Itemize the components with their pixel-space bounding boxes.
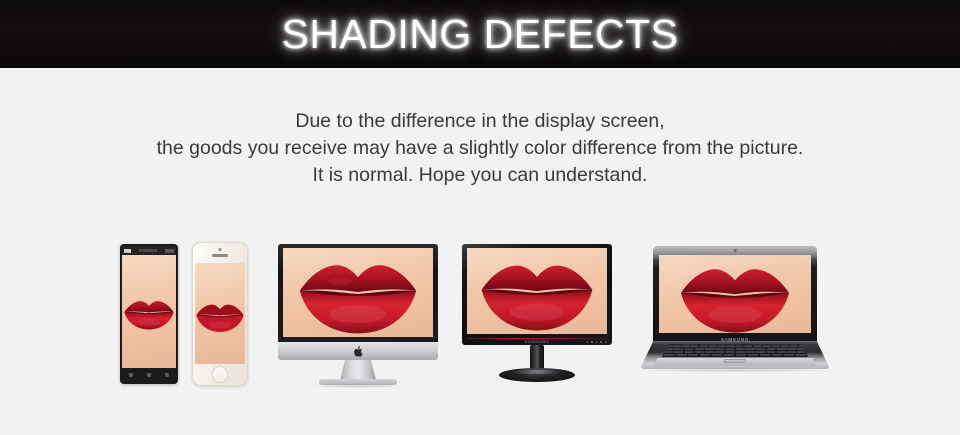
lips-artwork [195, 298, 245, 333]
device-android-phone [120, 244, 178, 384]
device-iphone [192, 242, 248, 386]
iphone-top-bar [192, 246, 248, 262]
lips-image-iphone [195, 263, 245, 364]
device-lineup: SAMSUNG [0, 236, 960, 396]
earpiece-speaker-icon [212, 254, 228, 257]
lips-image-imac [283, 248, 433, 337]
imac-chin [278, 342, 438, 360]
android-phone-screen [122, 254, 176, 368]
lips-image-monitor [467, 248, 607, 334]
home-button[interactable] [212, 366, 229, 383]
carrier-indicator-icon [124, 249, 131, 253]
monitor-bezel: SAMSUNG [462, 244, 612, 345]
back-button-icon[interactable] [165, 373, 169, 377]
disclaimer-line-2: the goods you receive may have a slightl… [0, 135, 960, 162]
menu-button-icon[interactable] [129, 373, 133, 377]
monitor-button-icon[interactable] [600, 341, 602, 343]
device-imac [278, 244, 438, 386]
lips-artwork [122, 293, 176, 333]
lips-icon [288, 252, 428, 336]
imac-shadow [310, 384, 406, 388]
monitor-control-buttons[interactable] [587, 341, 607, 343]
monitor-button-icon[interactable] [596, 341, 598, 343]
home-button-icon[interactable] [147, 373, 151, 377]
front-camera-icon [219, 248, 222, 251]
status-bar-center-icon [139, 249, 157, 252]
lips-icon [122, 293, 176, 333]
monitor-button-icon[interactable] [587, 341, 589, 343]
device-samsung-monitor: SAMSUNG [462, 244, 612, 386]
disclaimer-text: Due to the difference in the display scr… [0, 108, 960, 189]
imac-bezel [278, 244, 438, 342]
lips-image-laptop [659, 255, 811, 333]
monitor-base-highlight [511, 370, 563, 374]
monitor-brand-label: SAMSUNG [525, 339, 549, 344]
laptop-keyboard[interactable] [662, 344, 808, 357]
iphone-screen [195, 263, 245, 364]
monitor-screen [467, 248, 607, 334]
device-samsung-laptop: SAMSUNG [640, 246, 830, 376]
disclaimer-line-1: Due to the difference in the display scr… [0, 108, 960, 135]
laptop-shadow [637, 368, 833, 373]
imac-stand-neck [340, 360, 376, 380]
lips-artwork [668, 257, 802, 333]
monitor-button-icon[interactable] [591, 341, 593, 343]
lips-icon [668, 257, 802, 333]
disclaimer-line-3: It is normal. Hope you can understand. [0, 162, 960, 189]
header-banner: SHADING DEFECTS [0, 0, 960, 68]
lips-icon [195, 298, 245, 333]
laptop-lid: SAMSUNG [653, 246, 817, 342]
laptop-trackpad[interactable] [724, 359, 746, 363]
shading-defects-banner-page: SHADING DEFECTS Due to the difference in… [0, 0, 960, 435]
laptop-screen [659, 255, 811, 333]
android-status-bar [122, 246, 176, 255]
lips-artwork [474, 253, 600, 333]
battery-icon [165, 249, 174, 253]
apple-logo-icon [354, 346, 363, 357]
laptop-brand-label: SAMSUNG [721, 337, 749, 342]
android-navigation-bar[interactable] [122, 368, 176, 382]
webcam-icon [734, 249, 737, 252]
page-title: SHADING DEFECTS [281, 11, 678, 58]
imac-screen [283, 248, 433, 337]
monitor-power-button-icon[interactable] [605, 341, 607, 343]
lips-icon [474, 253, 600, 333]
lips-image-android [122, 254, 176, 368]
lips-artwork [288, 252, 428, 336]
